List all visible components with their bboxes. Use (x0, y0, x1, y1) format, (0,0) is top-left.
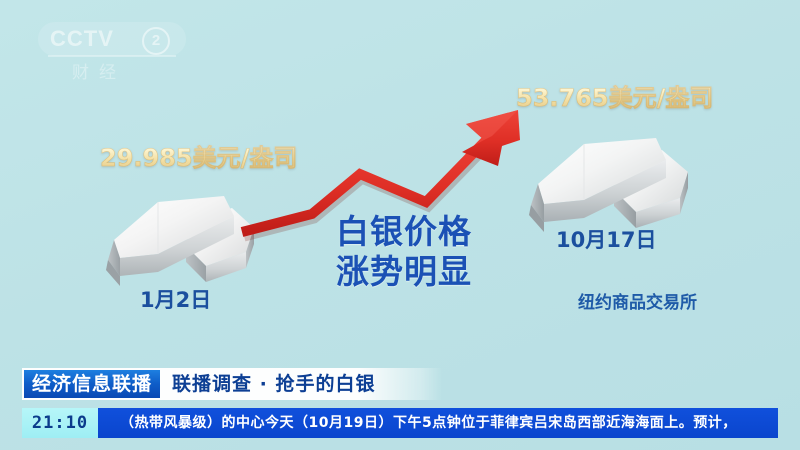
headline-line-2: 涨势明显 (336, 252, 472, 292)
headline-line-1: 白银价格 (336, 212, 472, 251)
lower-third-banner: 经济信息联播 联播调查 · 抢手的白银 (0, 368, 800, 402)
cctv2-channel-logo: CCTV 2 财经 (38, 22, 188, 82)
price-label-end: 53.765美元/盎司 (516, 78, 713, 113)
segment-title: 联播调查 · 抢手的白银 (172, 370, 375, 398)
date-label-end: 10月17日 (556, 224, 656, 254)
logo-subtitle: 财经 (72, 58, 126, 83)
logo-pill-shape (38, 22, 186, 56)
program-name-badge: 经济信息联播 (24, 370, 160, 398)
ticker-headline-text: （热带风暴级）的中心今天（10月19日）下午5点钟位于菲律宾吕宋岛西部近海海面上… (98, 408, 778, 438)
logo-channel-number: 2 (142, 27, 170, 55)
exchange-label: 纽约商品交易所 (578, 288, 697, 313)
silver-ingots-right-icon (518, 118, 700, 240)
headline-text: 白银价格 涨势明显 (336, 212, 472, 292)
date-label-start: 1月2日 (140, 284, 211, 314)
logo-cctv-text: CCTV (50, 26, 114, 52)
ticker-time: 21:10 (22, 408, 98, 438)
logo-underline (48, 55, 176, 57)
news-ticker-bar: 21:10 （热带风暴级）的中心今天（10月19日）下午5点钟位于菲律宾吕宋岛西… (22, 408, 778, 438)
broadcast-screen: CCTV 2 财经 29.985美元/盎司 53.765美元/盎司 (0, 0, 800, 450)
